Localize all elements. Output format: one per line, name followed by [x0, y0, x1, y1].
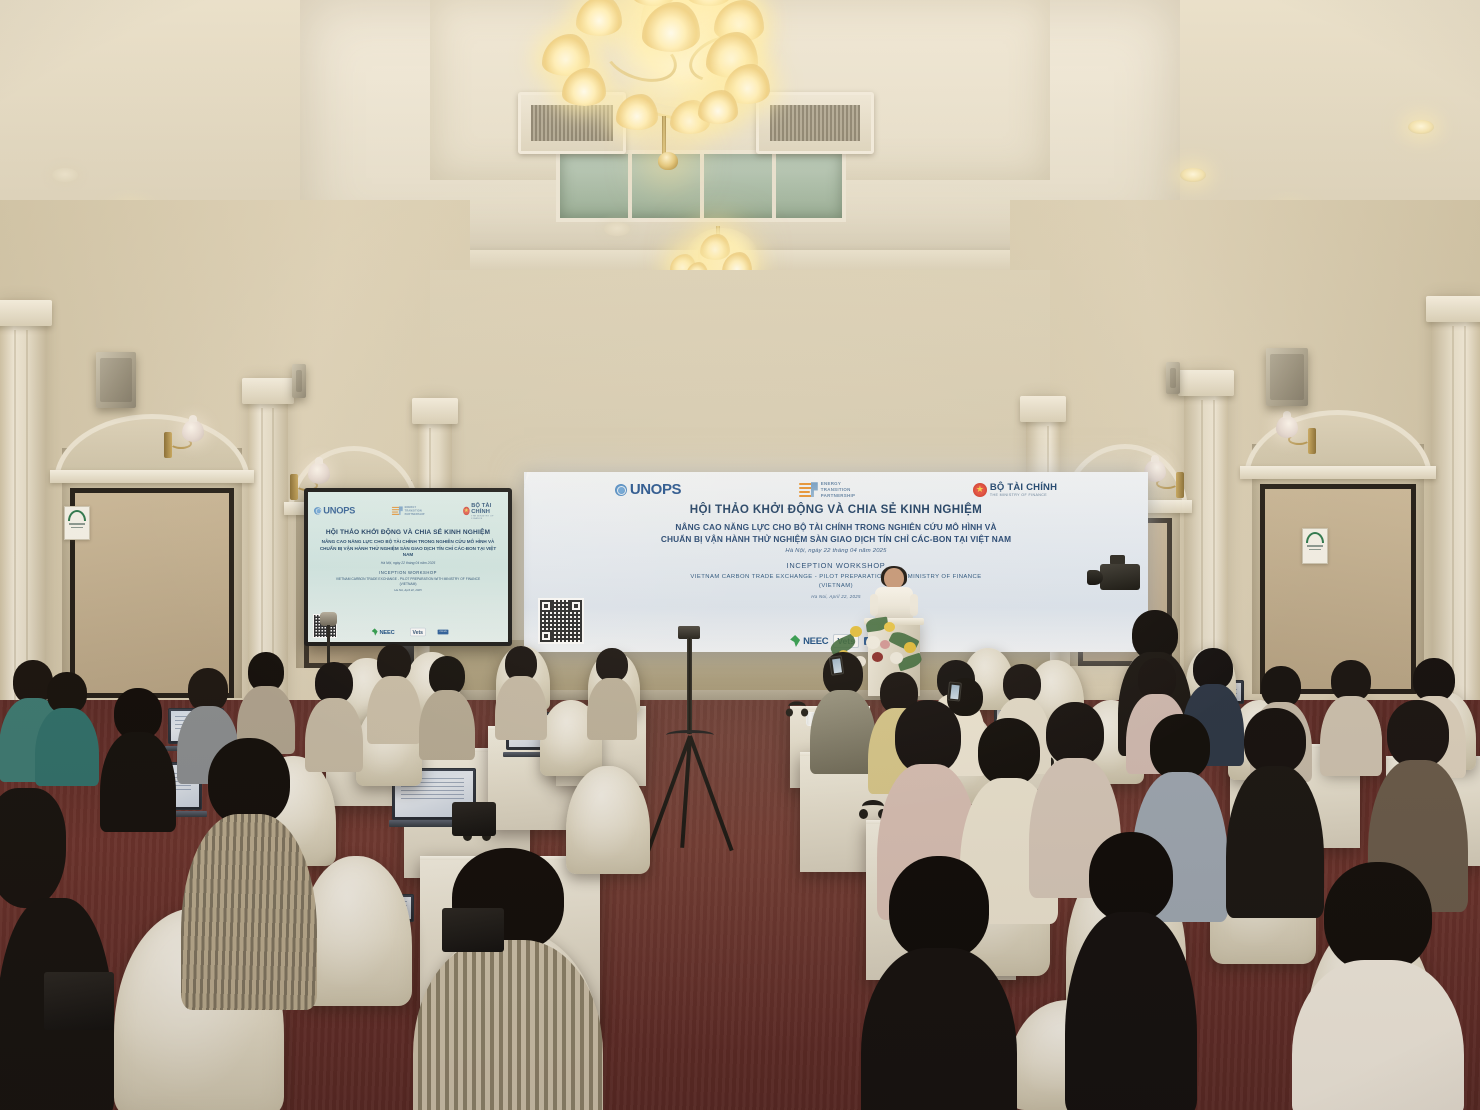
downlight [52, 168, 78, 182]
attendee-head [1089, 832, 1173, 922]
wall-speaker-right [1266, 348, 1308, 406]
chandelier-light [616, 94, 658, 130]
flower-white [866, 636, 880, 649]
camera-tripod [660, 626, 720, 856]
slide-subtitle-vietnamese: NÂNG CAO NĂNG LỰC CHO BỘ TÀI CHÍNH TRONG… [661, 521, 1011, 545]
pilaster-capital [1426, 296, 1480, 322]
seated-attendee [496, 646, 546, 734]
chandelier-light [576, 0, 622, 36]
attendee-head [0, 788, 66, 908]
side-display-place-date-vietnamese: Hà Nội, ngày 22 tháng 04 năm 2025 [381, 561, 435, 565]
sconce-shade [308, 462, 330, 484]
sconce-shade [1276, 416, 1298, 438]
plaque-text-line [69, 523, 86, 525]
wall-speaker-right-2 [1166, 362, 1180, 394]
side-display-title-vietnamese: HỘI THẢO KHỞI ĐỘNG VÀ CHIA SẺ KINH NGHIỆ… [326, 529, 490, 537]
pilaster-capital [1020, 396, 1066, 422]
attendee-head [1046, 702, 1104, 766]
qr-finder-top-right [570, 600, 582, 612]
attendee-shoulders [413, 940, 603, 1110]
downlight [1180, 168, 1206, 182]
seated-attendee-foreground [184, 738, 314, 998]
mof-logo-text: BỘ TÀI CHÍNH THE MINISTRY OF FINANCE [990, 483, 1057, 497]
slide-logo-row: UNOPS ENERGY TRANSITION PARTNERSHIP [534, 480, 1138, 498]
plaque-text-line [71, 527, 83, 529]
attendee-shoulders [419, 690, 475, 760]
bag [442, 908, 504, 952]
attendee-head [1150, 714, 1210, 780]
seated-attendee-foreground [864, 856, 1014, 1110]
attendee-head [895, 700, 961, 774]
bag [452, 802, 496, 836]
arched-niche-left-1 [62, 448, 242, 698]
slide-place-date-english: Ha Noi, April 22, 2025 [811, 594, 860, 599]
downlight [1408, 120, 1434, 134]
camera-lens [1087, 570, 1103, 585]
qr-finder-top-left [540, 600, 552, 612]
side-display-screen: UNOPS ENERGY TRANSITION PARTNERSHIP BỘ T… [308, 492, 508, 642]
presenter-head [884, 568, 904, 589]
etp-mark-icon [392, 507, 403, 516]
vietnam-star-emblem-icon [973, 483, 987, 497]
attendee-shoulders [1065, 912, 1197, 1110]
attendee-shoulders [861, 948, 1017, 1110]
flower-yellow [884, 622, 895, 632]
niche-lintel [50, 470, 254, 483]
etp-mark-icon [799, 482, 818, 497]
seated-attendee [368, 644, 420, 738]
ministry-of-finance-logo: BỘ TÀI CHÍNH THE MINISTRY OF FINANCE [973, 483, 1057, 497]
seated-attendee [102, 688, 174, 828]
side-display-title-english: INCEPTION WORKSHOP [379, 570, 437, 575]
camera-body [1100, 564, 1140, 590]
mof-logo-small: BỘ TÀI CHÍNH THE MINISTRY OF FINANCE [463, 503, 502, 520]
flower-yellow [904, 642, 916, 653]
energy-transition-partnership-logo: ENERGY TRANSITION PARTNERSHIP [799, 481, 855, 498]
smartphone[interactable] [829, 655, 845, 676]
conference-hall-photo: UNOPS ENERGY TRANSITION PARTNERSHIP [0, 0, 1480, 1110]
sconce-shade [182, 420, 204, 442]
vneec-logo: NEEC [372, 628, 395, 636]
etp-logo-small: ENERGY TRANSITION PARTNERSHIP [392, 506, 425, 516]
attendee-shoulders [35, 708, 99, 786]
attendee-shoulders [100, 732, 176, 832]
side-display-logo-row: UNOPS ENERGY TRANSITION PARTNERSHIP BỘ T… [314, 497, 502, 525]
vneec-logo: NEEC [790, 634, 828, 648]
seated-attendee [36, 672, 98, 782]
side-display-place-date-english: Ha Noi, April 22, 2025 [394, 588, 421, 592]
plaque-arc-icon [1306, 532, 1324, 543]
pilaster-capital [1178, 370, 1234, 396]
partner-badge-logo: ITRI.VN [437, 630, 448, 635]
pilaster-capital [0, 300, 52, 326]
attendee-shoulders [495, 676, 547, 740]
attendee-shoulders [810, 690, 876, 774]
attendee-shoulders [1292, 960, 1464, 1110]
attendee-shoulders [587, 678, 637, 740]
leaf-icon [790, 634, 802, 648]
attendee-head [596, 648, 628, 682]
seated-attendee-foreground [1296, 862, 1460, 1110]
unops-logo: UNOPS [615, 482, 681, 497]
chandelier-finial [658, 152, 678, 170]
vietnam-star-emblem-icon [463, 507, 469, 515]
flower-white [890, 652, 903, 664]
etp-logo-text: ENERGY TRANSITION PARTNERSHIP [405, 506, 425, 516]
microphone-head [320, 612, 337, 626]
plaque-arc-icon [68, 510, 86, 521]
flower-pink [880, 640, 890, 649]
arched-niche-right-1 [1252, 444, 1424, 694]
wall-plaque-right [1302, 528, 1328, 564]
etp-logo-text: ENERGY TRANSITION PARTNERSHIP [821, 481, 855, 498]
vets-logo: Vets [410, 628, 425, 636]
slide-title-vietnamese: HỘI THẢO KHỞI ĐỘNG VÀ CHIA SẺ KINH NGHIỆ… [690, 503, 982, 517]
niche-panel [70, 488, 234, 698]
seated-attendee [588, 648, 636, 734]
unops-logo-small: UNOPS [314, 506, 355, 515]
side-display-subtitle-english: VIETNAM CARBON TRADE EXCHANGE - PILOT PR… [336, 577, 480, 587]
plaque-text-line [1309, 549, 1321, 551]
smartphone[interactable] [947, 681, 962, 701]
attendee-head [889, 856, 989, 960]
attendee-head [208, 738, 290, 826]
chandelier-large [520, 0, 850, 174]
mof-logo-text: BỘ TÀI CHÍNH THE MINISTRY OF FINANCE [471, 503, 502, 520]
un-globe-emblem-icon [615, 484, 627, 496]
side-display-subtitle-vietnamese: NÂNG CAO NĂNG LỰC CHO BỘ TÀI CHÍNH TRONG… [314, 539, 502, 559]
tripod-center-column [687, 638, 692, 734]
pilaster-capital [412, 398, 458, 424]
un-globe-emblem-icon [314, 507, 321, 514]
wall-plaque-left [64, 506, 90, 540]
wall-speaker-left-2 [292, 364, 306, 398]
slide-title-english: INCEPTION WORKSHOP [787, 561, 886, 570]
bag [44, 972, 114, 1030]
seated-attendee-foreground [0, 788, 110, 1110]
flower-yellow [850, 626, 862, 637]
attendee-head [1387, 700, 1449, 768]
vneec-logo-text: NEEC [803, 636, 828, 647]
attendee-shoulders [367, 676, 421, 744]
side-display-partner-logos: NEEC Vets ITRI.VN [308, 625, 508, 639]
interpretation-headphones [788, 701, 806, 711]
slide-place-date-vietnamese: Hà Nội, ngày 22 tháng 04 năm 2025 [785, 548, 886, 554]
seated-attendee-foreground [418, 848, 598, 1110]
attendee-head [1324, 862, 1432, 972]
slide-subtitle-english: VIETNAM CARBON TRADE EXCHANGE - PILOT PR… [690, 573, 981, 591]
wall-speaker-left [96, 352, 136, 408]
leaf-icon [372, 628, 379, 636]
seated-attendee [420, 656, 474, 752]
seated-attendee-foreground [1068, 832, 1194, 1110]
unops-logo-text: UNOPS [630, 482, 681, 497]
attendee-head [978, 718, 1040, 786]
attendee-head [1244, 708, 1306, 774]
seated-attendee [238, 652, 294, 748]
downlight [604, 222, 630, 236]
unops-logo-text: UNOPS [323, 506, 355, 515]
seated-attendee [306, 662, 362, 766]
niche-lintel [1240, 466, 1436, 479]
pilaster-capital [242, 378, 294, 404]
attendee-shoulders [181, 814, 317, 1010]
plaque-text-line [1307, 545, 1324, 547]
vneec-logo-text: NEEC [380, 629, 395, 636]
